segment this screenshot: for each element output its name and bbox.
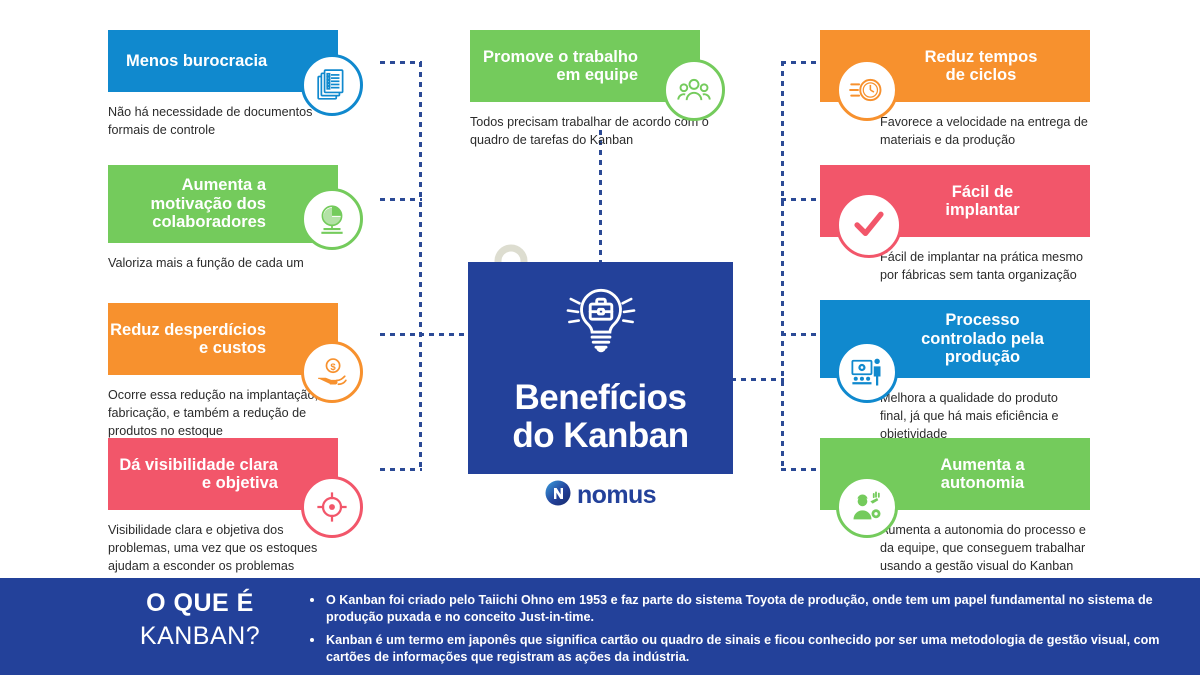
card-aumenta-motivacao[interactable]: Aumenta a motivação dos colaboradores Va…	[108, 165, 380, 273]
worker-gear-icon	[836, 476, 898, 538]
card-title: Promove o trabalho em equipe	[483, 48, 638, 85]
card-description: Não há necessidade de documentos formais…	[108, 104, 328, 140]
card-description: Aumenta a autonomia do processo e da equ…	[880, 522, 1098, 576]
card-description: Visibilidade clara e objetiva dos proble…	[108, 522, 336, 576]
card-aumenta-autonomia[interactable]: Aumenta a autonomia Aumenta a autonomia …	[820, 438, 1092, 576]
card-processo-controlado[interactable]: Processo controlado pela produção Melhor…	[820, 300, 1092, 444]
connector-left-to-center	[419, 333, 471, 336]
banner-title-line2: KANBAN?	[100, 622, 300, 651]
card-facil-implantar[interactable]: Fácil de implantar Fácil de implantar na…	[820, 165, 1092, 285]
bottom-banner: O QUE É KANBAN? O Kanban foi criado pelo…	[0, 578, 1200, 675]
connector-left-trunk	[419, 62, 422, 470]
card-title: Fácil de implantar	[945, 183, 1019, 220]
connector-left-branch-3	[380, 333, 422, 336]
connector-right-trunk	[781, 61, 784, 471]
card-menos-burocracia[interactable]: Menos burocracia Não há necessidade de d…	[108, 30, 380, 140]
connector-center-to-right	[731, 378, 784, 381]
list-item: Kanban é um termo em japonês que signifi…	[308, 632, 1168, 667]
card-da-visibilidade[interactable]: Dá visibilidade clara e objetiva Visibil…	[108, 438, 380, 576]
page-title: Benefíciosdo Kanban	[512, 379, 688, 455]
connector-left-branch-2	[380, 198, 422, 201]
list-item: O Kanban foi criado pelo Taiichi Ohno em…	[308, 592, 1168, 627]
infographic-canvas: Menos burocracia Não há necessidade de d…	[0, 0, 1200, 675]
nomus-logo-text: nomus	[577, 481, 656, 510]
connector-right-branch-1	[781, 61, 823, 64]
card-title: Dá visibilidade clara e objetiva	[119, 456, 278, 493]
connector-center-trunk	[599, 130, 602, 262]
card-reduz-tempos-ciclos[interactable]: Reduz tempos de ciclos Favorece a veloci…	[820, 30, 1092, 150]
documents-stack-icon	[301, 54, 363, 116]
banner-title: O QUE É KANBAN?	[100, 589, 300, 651]
card-title: Reduz tempos de ciclos	[925, 48, 1038, 85]
card-reduz-desperdicios[interactable]: Reduz desperdícios e custos $ Ocorre ess…	[108, 303, 380, 441]
hand-money-icon: $	[301, 341, 363, 403]
card-description: Favorece a velocidade na entrega de mate…	[880, 114, 1095, 150]
connector-right-branch-4	[781, 468, 823, 471]
connector-left-branch-1	[380, 61, 422, 64]
card-description: Valoriza mais a função de cada um	[108, 255, 348, 273]
svg-text:$: $	[330, 362, 336, 373]
banner-bullet-list: O Kanban foi criado pelo Taiichi Ohno em…	[308, 592, 1168, 672]
card-title: Aumenta a autonomia	[940, 456, 1024, 493]
checkmark-icon	[836, 192, 902, 258]
card-title: Aumenta a motivação dos colaboradores	[150, 176, 266, 231]
nomus-n-mark-icon	[545, 480, 571, 511]
banner-title-line1: O QUE É	[100, 589, 300, 618]
fast-clock-icon	[836, 59, 898, 121]
center-hub: Benefíciosdo Kanban	[468, 262, 733, 474]
card-promove-trabalho-equipe[interactable]: Promove o trabalho em equipe Todos preci…	[470, 30, 742, 150]
presentation-gear-icon	[836, 341, 898, 403]
connector-right-branch-3	[781, 333, 823, 336]
team-people-icon	[663, 59, 725, 121]
pie-chart-podium-icon	[301, 188, 363, 250]
card-description: Melhora a qualidade do produto final, já…	[880, 390, 1080, 444]
target-crosshair-icon	[301, 476, 363, 538]
connector-left-branch-4	[380, 468, 422, 471]
connector-right-branch-2	[781, 198, 823, 201]
nomus-logo[interactable]: nomus	[468, 480, 733, 511]
lightbulb-briefcase-icon	[555, 276, 647, 373]
card-title: Processo controlado pela produção	[921, 311, 1044, 366]
card-description: Todos precisam trabalhar de acordo com o…	[470, 114, 715, 150]
card-title: Reduz desperdícios e custos	[110, 321, 266, 358]
card-title: Menos burocracia	[126, 52, 267, 70]
card-description: Fácil de implantar na prática mesmo por …	[880, 249, 1100, 285]
